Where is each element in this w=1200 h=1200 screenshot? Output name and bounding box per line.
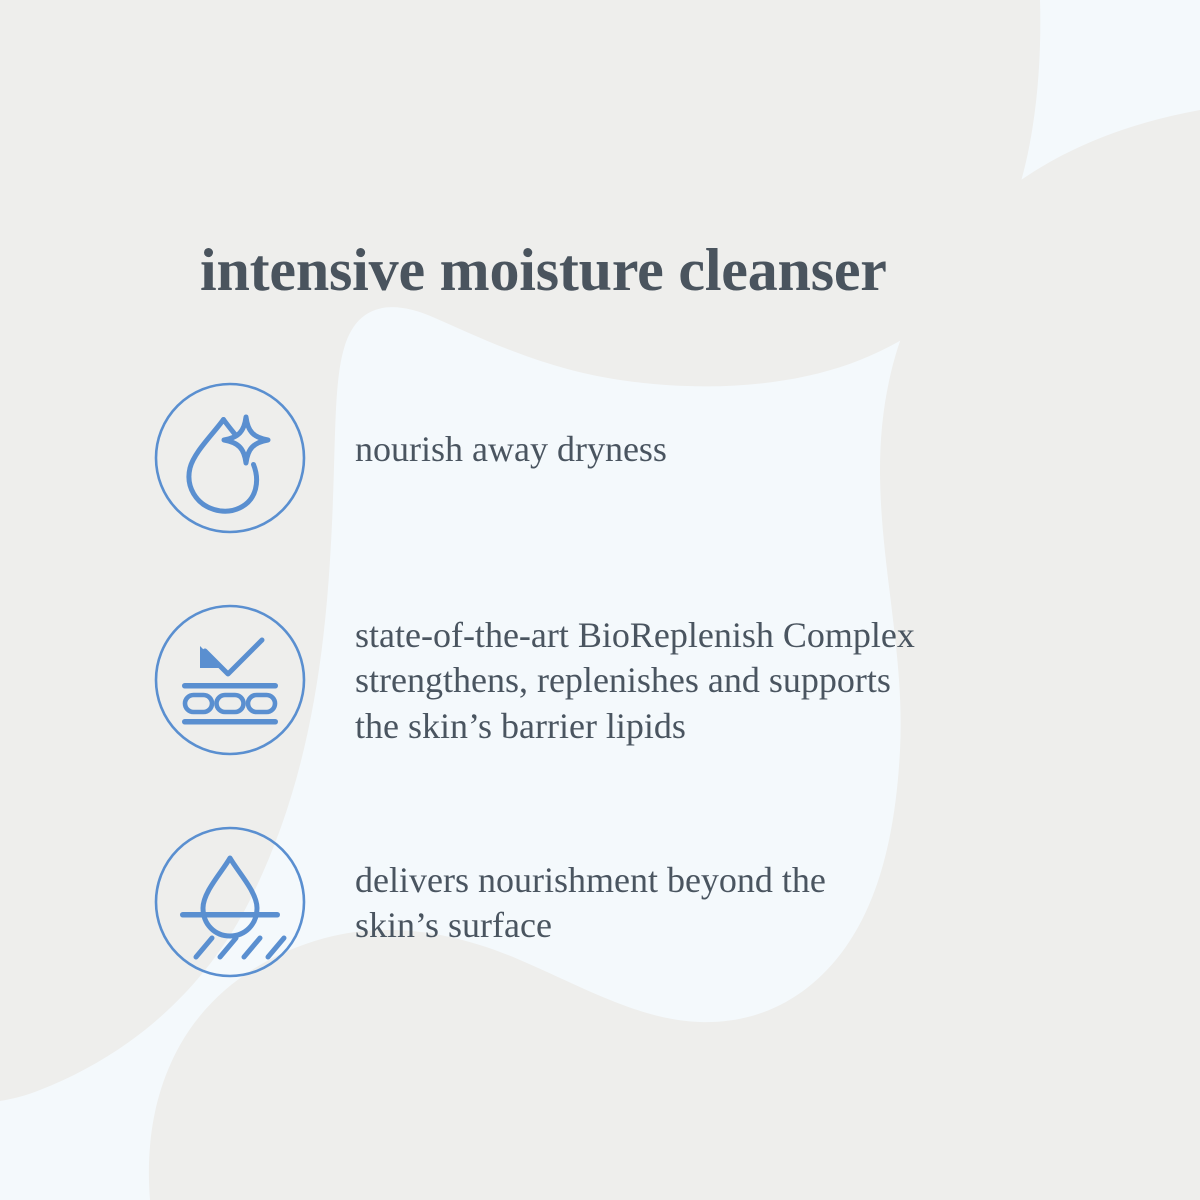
- feature-item: state-of-the-art BioReplenish Complex st…: [150, 600, 1080, 760]
- feature-list: nourish away dryness: [150, 378, 1080, 982]
- barrier-layers-icon: [150, 600, 310, 760]
- deflected-ray: [205, 640, 262, 674]
- droplet-shape: [203, 858, 257, 936]
- page-title: intensive moisture cleanser: [200, 240, 1060, 300]
- lipid-capsule: [185, 695, 212, 712]
- surface-line: [180, 912, 280, 918]
- droplet-penetration-icon: [150, 822, 310, 982]
- feature-text: nourish away dryness: [310, 378, 1080, 472]
- feature-text: delivers nourishment beyond the skin’s s…: [310, 822, 1080, 949]
- droplet-sparkle-icon: [150, 378, 310, 538]
- feature-text: state-of-the-art BioReplenish Complex st…: [310, 600, 1080, 749]
- barrier-top-bar: [182, 683, 278, 689]
- sparkle-shape: [224, 417, 268, 463]
- icon-circle-outline: [156, 828, 304, 976]
- icon-circle-outline: [156, 606, 304, 754]
- penetration-hatches: [196, 938, 284, 957]
- droplet-tip: [224, 420, 236, 436]
- feature-item: nourish away dryness: [150, 378, 1080, 538]
- lipid-capsule: [217, 695, 244, 712]
- feature-item: delivers nourishment beyond the skin’s s…: [150, 822, 1080, 982]
- barrier-bottom-bar: [182, 719, 278, 725]
- lipid-capsule: [248, 695, 275, 712]
- product-benefits-card: intensive moisture cleanser nourish away…: [0, 0, 1200, 1200]
